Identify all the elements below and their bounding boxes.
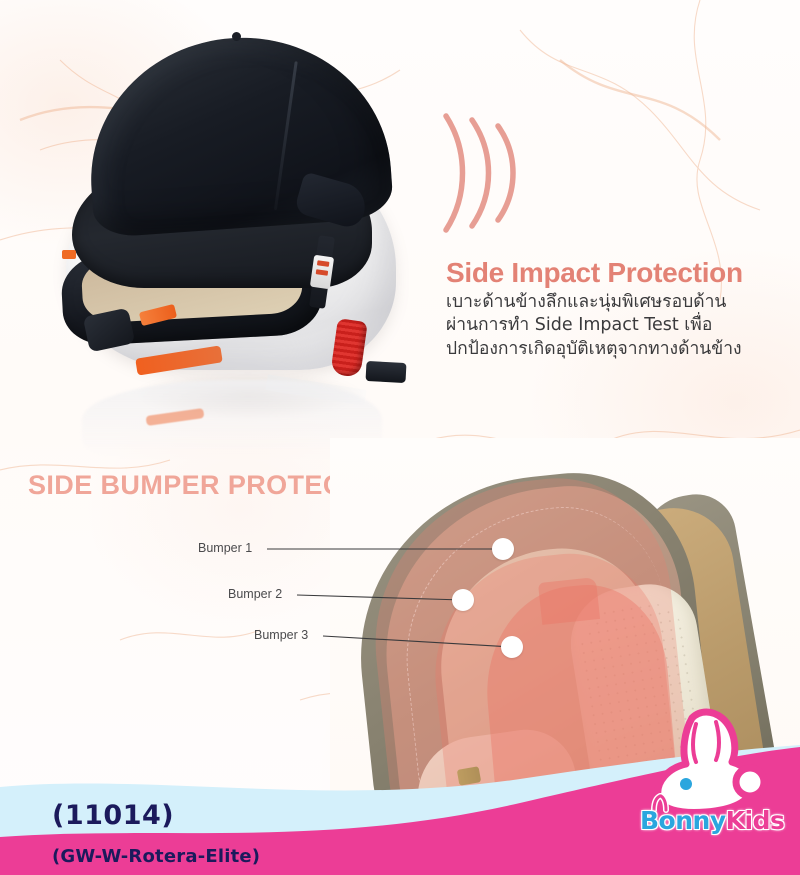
brand-bonny: Bonny [640, 806, 726, 835]
bunny-eye [680, 778, 692, 790]
callout-label-bumper-3: Bumper 3 [254, 628, 308, 642]
callout-dot-bumper-1 [492, 538, 514, 560]
product-code: (11014) [52, 800, 174, 831]
brand-kids: Kids [726, 806, 785, 835]
callout-line-2 [297, 595, 463, 600]
bunny-icon [654, 712, 764, 812]
brand-wordmark: BonnyKids [640, 806, 784, 835]
callout-dot-bumper-3 [501, 636, 523, 658]
callout-label-bumper-1: Bumper 1 [198, 541, 252, 555]
product-infographic-page: Side Impact Protection เบาะด้านข้างลึกแล… [0, 0, 800, 875]
product-model: (GW-W-Rotera-Elite) [52, 846, 260, 867]
callout-line-3 [323, 636, 513, 647]
callout-label-bumper-2: Bumper 2 [228, 587, 282, 601]
callout-dot-bumper-2 [452, 589, 474, 611]
